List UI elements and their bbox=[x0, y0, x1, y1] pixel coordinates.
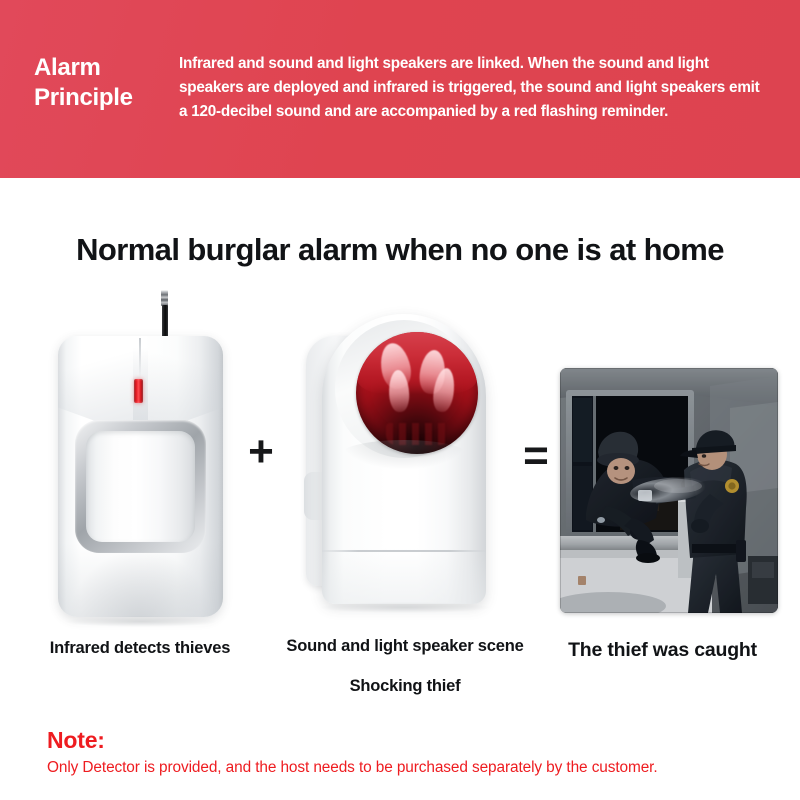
note-text: Only Detector is provided, and the host … bbox=[47, 759, 767, 777]
detector-seam bbox=[139, 338, 141, 378]
product-thief-caught-photo bbox=[555, 282, 785, 632]
caption-thief-caught: The thief was caught bbox=[545, 639, 780, 662]
equals-operator: = bbox=[512, 434, 560, 478]
thief-caught-photograph bbox=[560, 368, 778, 613]
siren-neck-shadow bbox=[340, 440, 468, 470]
siren-mount-bracket bbox=[304, 472, 324, 520]
siren-dome-recess bbox=[335, 320, 473, 458]
product-infographic-page: Alarm Principle Infrared and sound and l… bbox=[0, 0, 800, 800]
page-headline: Normal burglar alarm when no one is at h… bbox=[0, 232, 800, 268]
note-block: Note: Only Detector is provided, and the… bbox=[47, 728, 767, 778]
siren-illustration bbox=[304, 314, 500, 612]
plus-operator: + bbox=[237, 430, 285, 474]
siren-ground-shadow bbox=[320, 602, 490, 613]
detector-body bbox=[58, 336, 223, 617]
antenna-icon bbox=[162, 305, 168, 340]
banner-title-line1: Alarm bbox=[34, 53, 174, 83]
siren-red-strobe-dome bbox=[356, 332, 478, 454]
product-sound-light-speaker bbox=[300, 282, 510, 632]
product-equation-row: + bbox=[0, 282, 800, 632]
detector-fresnel-lens bbox=[86, 431, 195, 542]
banner-description: Infrared and sound and light speakers ar… bbox=[179, 52, 771, 124]
siren-base-sheen bbox=[322, 548, 486, 604]
infrared-detector-illustration bbox=[58, 290, 223, 620]
caption-siren-line2: Shocking thief bbox=[275, 678, 535, 695]
alarm-principle-banner: Alarm Principle Infrared and sound and l… bbox=[0, 0, 800, 178]
caption-siren-line1: Sound and light speaker scene bbox=[286, 637, 523, 655]
dome-upper-gradient bbox=[356, 332, 478, 394]
detector-ground-shadow bbox=[66, 616, 216, 627]
caption-infrared-detector: Infrared detects thieves bbox=[20, 639, 260, 658]
note-title: Note: bbox=[47, 728, 767, 753]
photo-frame bbox=[560, 368, 778, 613]
siren-body bbox=[322, 314, 486, 604]
detector-lens-frame bbox=[75, 420, 206, 553]
product-infrared-detector bbox=[40, 282, 240, 632]
banner-title: Alarm Principle bbox=[34, 53, 174, 113]
caption-sound-light-speaker: Sound and light speaker scene Shocking t… bbox=[275, 638, 535, 694]
antenna-tip-icon bbox=[161, 290, 168, 306]
detector-lower-sheen bbox=[58, 543, 223, 617]
detector-led-indicator bbox=[134, 379, 143, 403]
banner-title-line2: Principle bbox=[34, 83, 174, 113]
